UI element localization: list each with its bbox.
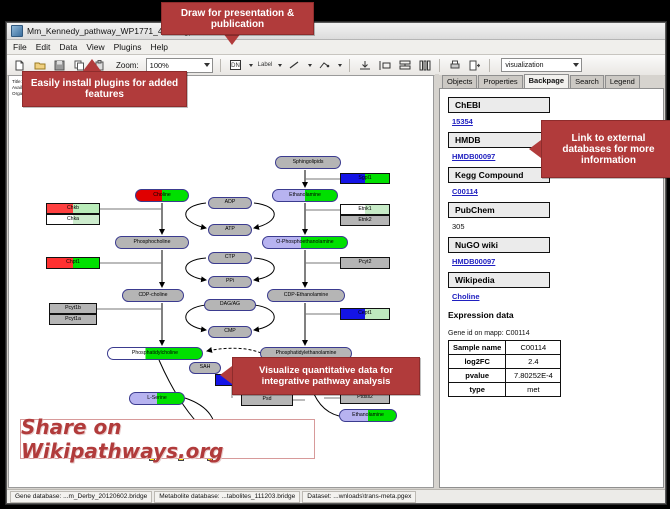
menu-item-plugins[interactable]: Plugins (114, 42, 142, 52)
backpage-link-nugowiki[interactable]: HMDB00097 (452, 257, 655, 266)
node-label: Phosphocholine (134, 240, 171, 245)
expression-value-pvalue: 7.80252E-4 (506, 369, 561, 383)
node-label: Pcyt1b (65, 306, 81, 311)
datanode-icon[interactable]: DN (228, 58, 243, 73)
share-banner: Share on Wikipathways.org (20, 419, 315, 459)
node-label: Cept1 (358, 311, 372, 316)
node-label: Phosphatidylethanolamine (276, 351, 337, 356)
expression-data-table: Sample name C00114 log2FC 2.4 pvalue 7.8… (448, 340, 561, 397)
gene-node-chpt1[interactable]: Chpt1 (46, 257, 100, 269)
node-label: Ethanolamine (352, 413, 384, 418)
gene-node-chkb[interactable]: Chkb (46, 203, 100, 214)
chevron-down-icon (204, 63, 210, 67)
backpage-header-wikipedia: Wikipedia (448, 272, 550, 288)
menu-item-data[interactable]: Data (59, 42, 77, 52)
metabolite-node-phosphocholine[interactable]: Phosphocholine (115, 236, 189, 249)
node-label: CTP (225, 255, 235, 260)
distribute-icon[interactable] (417, 58, 432, 73)
node-label: Ethanolamine (289, 193, 321, 198)
stack-icon[interactable] (397, 58, 412, 73)
gene-node-chka[interactable]: Chka (46, 214, 100, 225)
visualization-value: visualization (505, 62, 543, 69)
tab-objects[interactable]: Objects (442, 75, 477, 88)
menu-bar: File Edit Data View Plugins Help (7, 40, 665, 55)
node-label: Etnk2 (358, 218, 371, 223)
export-icon[interactable] (467, 58, 482, 73)
metabolite-node-ppi[interactable]: PPi (208, 276, 252, 288)
svg-text:DN: DN (231, 63, 240, 69)
expression-value-log2fc: 2.4 (506, 355, 561, 369)
callout-plugins-pointer (83, 59, 101, 71)
metabolite-node-ethanolamine-bottom[interactable]: Ethanolamine (339, 409, 397, 422)
visualization-combo[interactable]: visualization (501, 58, 582, 72)
node-label: Psd (263, 397, 272, 402)
table-row: Sample name C00114 (449, 341, 561, 355)
metabolite-node-o-phosphoethanolamine[interactable]: O-Phosphoethanolamine (262, 236, 348, 249)
menu-item-file[interactable]: File (13, 42, 27, 52)
gene-node-etnk1[interactable]: Etnk1 (340, 204, 390, 215)
callout-draw-for-publication: Draw for presentation & publication (161, 2, 314, 35)
expression-key-type: type (449, 383, 506, 397)
node-label: CDP-choline (138, 293, 167, 298)
align-left-icon[interactable] (377, 58, 392, 73)
metabolite-node-dag-ag[interactable]: DAG/AG (204, 299, 256, 311)
tab-search[interactable]: Search (570, 75, 604, 88)
tab-properties[interactable]: Properties (478, 75, 522, 88)
callout-visualize-data: Visualize quantitative data for integrat… (232, 357, 420, 395)
toolbar-separator (349, 59, 350, 72)
table-row: type met (449, 383, 561, 397)
node-label: Chkb (67, 206, 79, 211)
side-panel-tabs: Objects Properties Backpage Search Legen… (439, 75, 664, 88)
line-icon[interactable] (287, 58, 302, 73)
node-label: Pcyt2 (359, 260, 372, 265)
print-icon[interactable] (447, 58, 462, 73)
node-label: DAG/AG (220, 302, 240, 307)
gene-node-pcyt1b[interactable]: Pcyt1b (49, 303, 97, 314)
node-label: ATP (225, 227, 235, 232)
gene-node-cept1[interactable]: Cept1 (340, 308, 390, 320)
callout-links-pointer (529, 140, 541, 158)
table-row: log2FC 2.4 (449, 355, 561, 369)
metabolite-node-sphingolipids[interactable]: Sphingolipids (275, 156, 341, 169)
metabolite-node-adp[interactable]: ADP (208, 197, 252, 209)
backpage-link-kegg[interactable]: C00114 (452, 187, 655, 196)
app-icon (11, 25, 23, 37)
node-label: CDP-Ethanolamine (284, 293, 328, 298)
metabolite-node-choline[interactable]: Choline (135, 189, 189, 202)
gene-id-line: Gene id on mapp: C00114 (448, 330, 655, 337)
metabolite-node-atp[interactable]: ATP (208, 224, 252, 236)
backpage-header-kegg: Kegg Compound (448, 167, 550, 183)
expression-value-type: met (506, 383, 561, 397)
status-bar: Gene database: ...m_Derby_20120602.bridg… (7, 489, 665, 503)
gene-node-sgpl1[interactable]: Sgpl1 (340, 173, 390, 184)
node-label: Phosphatidylcholine (132, 351, 178, 356)
chevron-down-icon (573, 63, 579, 67)
arrow-shape-icon[interactable] (317, 58, 332, 73)
node-label: Chpt1 (66, 260, 80, 265)
status-metabolite-database: Metabolite database: ...tabolites_111203… (154, 491, 300, 503)
share-banner-text: Share on Wikipathways.org (21, 415, 314, 463)
backpage-link-wikipedia[interactable]: Choline (452, 292, 655, 301)
status-gene-database: Gene database: ...m_Derby_20120602.bridg… (10, 491, 152, 503)
expression-key-log2fc: log2FC (449, 355, 506, 369)
node-label: SAH (200, 365, 211, 370)
title-bar: Mm_Kennedy_pathway_WP1771_45176.gpml (7, 23, 665, 40)
metabolite-node-cdp-ethanolamine[interactable]: CDP-Ethanolamine (267, 289, 345, 302)
gene-node-etnk2[interactable]: Etnk2 (340, 215, 390, 226)
align-top-icon[interactable] (357, 58, 372, 73)
expression-key-sample-name: Sample name (449, 341, 506, 355)
expression-data-title: Expression data (448, 310, 655, 320)
tab-legend[interactable]: Legend (605, 75, 640, 88)
callout-external-links: Link to external databases for more info… (541, 120, 670, 178)
node-label: Pcyt1a (65, 317, 81, 322)
backpage-header-pubchem: PubChem (448, 202, 550, 218)
metabolite-node-ctp[interactable]: CTP (208, 252, 252, 264)
metabolite-node-phosphatidylcholine[interactable]: Phosphatidylcholine (107, 347, 203, 360)
label-tool-label[interactable]: Label (258, 62, 273, 68)
table-row: pvalue 7.80252E-4 (449, 369, 561, 383)
zoom-value: 100% (150, 61, 169, 70)
node-label: PPi (226, 279, 234, 284)
chevron-down-icon[interactable] (308, 64, 312, 67)
toolbar-separator (220, 59, 221, 72)
metabolite-node-cmp[interactable]: CMP (208, 326, 252, 338)
gene-node-psd[interactable]: Psd (241, 394, 293, 406)
node-label: Ptdss2 (357, 395, 373, 400)
toolbar-separator (439, 59, 440, 72)
chevron-down-icon[interactable] (249, 64, 253, 67)
gene-node-pcyt2[interactable]: Pcyt2 (340, 257, 390, 269)
node-label: L-Serine (147, 396, 167, 401)
screenshot-root: Mm_Kennedy_pathway_WP1771_45176.gpml Fil… (0, 0, 670, 509)
toolbar-separator (489, 59, 490, 72)
node-label: Sphingolipids (293, 160, 324, 165)
callout-visualize-pointer (220, 366, 232, 384)
node-label: Etnk1 (358, 207, 371, 212)
expression-value-sample-name: C00114 (506, 341, 561, 355)
expression-key-pvalue: pvalue (449, 369, 506, 383)
metabolite-node-cdp-choline[interactable]: CDP-choline (122, 289, 184, 302)
backpage-value-pubchem: 305 (452, 222, 655, 231)
status-dataset: Dataset: ...wnloads\trans-meta.pgex (302, 491, 416, 503)
backpage-header-nugowiki: NuGO wiki (448, 237, 550, 253)
chevron-down-icon[interactable] (338, 64, 342, 67)
menu-item-help[interactable]: Help (151, 42, 168, 52)
backpage-header-chebi: ChEBI (448, 97, 550, 113)
menu-item-edit[interactable]: Edit (36, 42, 51, 52)
menu-item-view[interactable]: View (86, 42, 104, 52)
metabolite-node-ethanolamine[interactable]: Ethanolamine (272, 189, 338, 202)
node-label: Sgpl1 (358, 176, 371, 181)
node-label: Choline (153, 193, 171, 198)
gene-node-pcyt1a[interactable]: Pcyt1a (49, 314, 97, 325)
node-label: ADP (225, 200, 236, 205)
chevron-down-icon[interactable] (278, 64, 282, 67)
callout-install-plugins: Easily install plugins for added feature… (22, 71, 187, 107)
zoom-label: Zoom: (116, 61, 139, 70)
node-label: O-Phosphoethanolamine (276, 240, 333, 245)
tab-backpage[interactable]: Backpage (524, 74, 569, 88)
metabolite-node-l-serine-left[interactable]: L-Serine (129, 392, 185, 405)
metabolite-node-sah[interactable]: SAH (189, 362, 221, 374)
node-label: Chka (67, 217, 79, 222)
node-label: CMP (224, 329, 236, 334)
